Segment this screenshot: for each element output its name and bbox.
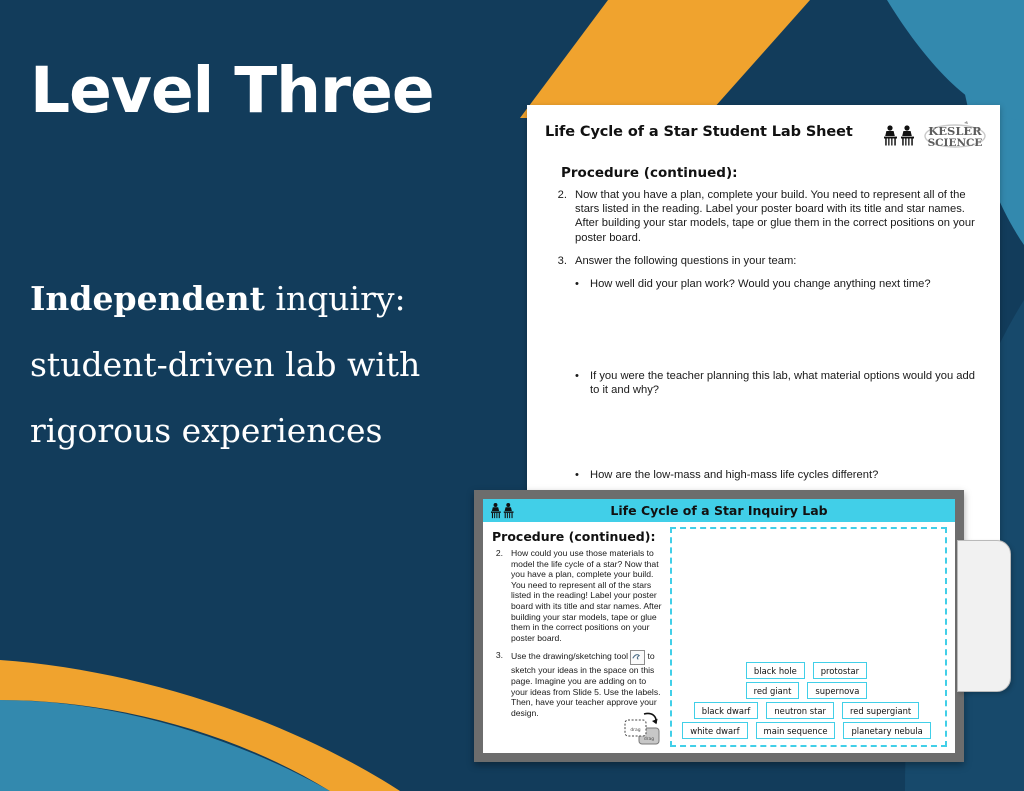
- question-text: How are the low-mass and high-mass life …: [590, 468, 878, 482]
- bullet-icon: •: [575, 277, 581, 291]
- label-row: black dwarf neutron star red supergiant: [694, 702, 919, 719]
- question-item: • If you were the teacher planning this …: [575, 369, 984, 397]
- lab-sheet-section-heading: Procedure (continued):: [561, 165, 984, 181]
- label-chip[interactable]: supernova: [807, 682, 867, 699]
- label-chip[interactable]: planetary nebula: [843, 722, 930, 739]
- lab-sheet-questions: • How well did your plan work? Would you…: [551, 277, 984, 482]
- question-item: • How are the low-mass and high-mass lif…: [575, 468, 984, 482]
- step-number: 3.: [551, 254, 567, 268]
- inquiry-lab-header: Life Cycle of a Star Inquiry Lab: [483, 499, 955, 522]
- step-number: 3.: [492, 650, 503, 718]
- step-text: Now that you have a plan, complete your …: [575, 188, 984, 245]
- bottom-left-teal-curve: [0, 700, 330, 791]
- label-chip[interactable]: red giant: [746, 682, 800, 699]
- inquiry-instructions-column: Procedure (continued): 2. How could you …: [483, 522, 668, 753]
- label-row: red giant supernova: [746, 682, 868, 699]
- label-chip[interactable]: protostar: [813, 662, 867, 679]
- label-chip[interactable]: neutron star: [766, 702, 834, 719]
- inquiry-step: 2. How could you use those materials to …: [492, 548, 662, 643]
- answer-space[interactable]: [575, 291, 984, 369]
- inquiry-lab-title: Life Cycle of a Star Inquiry Lab: [483, 503, 955, 518]
- label-chip[interactable]: black hole: [746, 662, 805, 679]
- label-bank: black hole protostar red giant supernova…: [672, 662, 941, 739]
- label-chip[interactable]: black dwarf: [694, 702, 759, 719]
- bullet-icon: •: [575, 468, 581, 482]
- inquiry-section-heading: Procedure (continued):: [492, 529, 662, 544]
- lab-sheet-step: 2. Now that you have a plan, complete yo…: [551, 188, 984, 245]
- svg-text:drag: drag: [644, 736, 654, 742]
- slide-root: Level Three Independent inquiry: student…: [0, 0, 1024, 791]
- bullet-icon: •: [575, 369, 581, 397]
- lab-sheet-body: Procedure (continued): 2. Now that you h…: [527, 151, 1000, 482]
- svg-text:drag: drag: [630, 727, 640, 733]
- step-number: 2.: [551, 188, 567, 245]
- step-text: Answer the following questions in your t…: [575, 254, 984, 268]
- answer-space[interactable]: [575, 398, 984, 468]
- label-chip[interactable]: red supergiant: [842, 702, 919, 719]
- inquiry-lab-page: Life Cycle of a Star Inquiry Lab Procedu…: [483, 499, 955, 753]
- drag-labels-icon: drag drag: [622, 710, 666, 750]
- inquiry-lab-panel: Life Cycle of a Star Inquiry Lab Procedu…: [474, 490, 964, 762]
- lab-sheet-title: Life Cycle of a Star Student Lab Sheet: [545, 121, 853, 140]
- lab-sheet-header: Life Cycle of a Star Student Lab Sheet: [527, 105, 1000, 151]
- label-chip[interactable]: white dwarf: [682, 722, 747, 739]
- kesler-word: KESLER: [928, 124, 982, 138]
- top-orange-swoosh: [520, 0, 810, 118]
- question-item: • How well did your plan work? Would you…: [575, 277, 984, 291]
- page-tab: [957, 540, 1011, 692]
- slide-body-text: Independent inquiry: student-driven lab …: [30, 266, 520, 464]
- lab-sheet-step: 3. Answer the following questions in you…: [551, 254, 984, 268]
- inquiry-canvas-column: black hole protostar red giant supernova…: [668, 522, 955, 753]
- step-text-before: Use the drawing/sketching tool: [511, 651, 628, 661]
- label-row: white dwarf main sequence planetary nebu…: [682, 722, 931, 739]
- body-lead: Independent: [30, 279, 265, 318]
- lab-sheet-steps: 2. Now that you have a plan, complete yo…: [551, 188, 984, 268]
- page-title: Level Three: [30, 58, 434, 124]
- step-text: Use the drawing/sketching tool to sketch…: [511, 650, 662, 718]
- drawing-sketch-tool-icon[interactable]: [630, 650, 645, 665]
- inquiry-step: 3. Use the drawing/sketching tool to ske…: [492, 650, 662, 718]
- inquiry-steps: 2. How could you use those materials to …: [492, 548, 662, 718]
- label-chip[interactable]: main sequence: [756, 722, 836, 739]
- drawing-canvas[interactable]: black hole protostar red giant supernova…: [670, 527, 947, 747]
- kesler-science-logo: KESLER SCIENCE: [924, 121, 986, 151]
- kesler-brand: KESLER SCIENCE: [884, 121, 986, 151]
- step-number: 2.: [492, 548, 503, 643]
- top-right-teal-band: [887, 0, 1024, 120]
- question-text: How well did your plan work? Would you c…: [590, 277, 931, 291]
- question-text: If you were the teacher planning this la…: [590, 369, 984, 397]
- bottom-left-orange-curve: [0, 660, 400, 791]
- step-text: How could you use those materials to mod…: [511, 548, 662, 643]
- inquiry-lab-columns: Procedure (continued): 2. How could you …: [483, 522, 955, 753]
- students-at-desk-icon: [884, 124, 916, 148]
- science-word: SCIENCE: [928, 137, 983, 149]
- label-row: black hole protostar: [746, 662, 867, 679]
